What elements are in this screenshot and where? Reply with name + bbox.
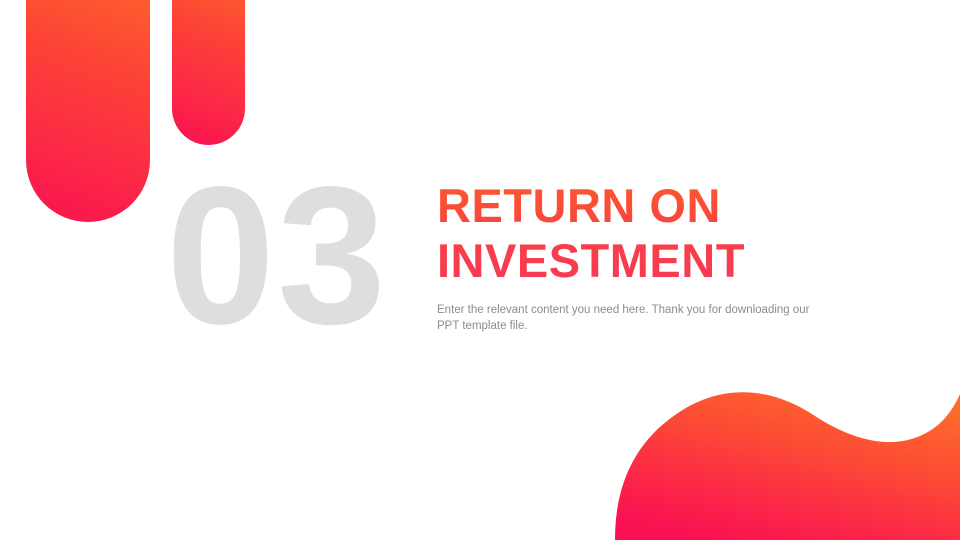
- slide-subtitle: Enter the relevant content you need here…: [437, 302, 813, 334]
- wave-blob-decoration: [590, 380, 960, 540]
- page-title: RETURN ON INVESTMENT: [437, 178, 837, 288]
- slide-text-block: RETURN ON INVESTMENT Enter the relevant …: [437, 178, 837, 334]
- pill-bar-small-decoration: [172, 0, 245, 145]
- pill-bar-large-decoration: [26, 0, 150, 222]
- section-number: 03: [166, 158, 388, 354]
- slide-canvas: 03 RETURN ON INVESTMENT Enter the releva…: [0, 0, 960, 540]
